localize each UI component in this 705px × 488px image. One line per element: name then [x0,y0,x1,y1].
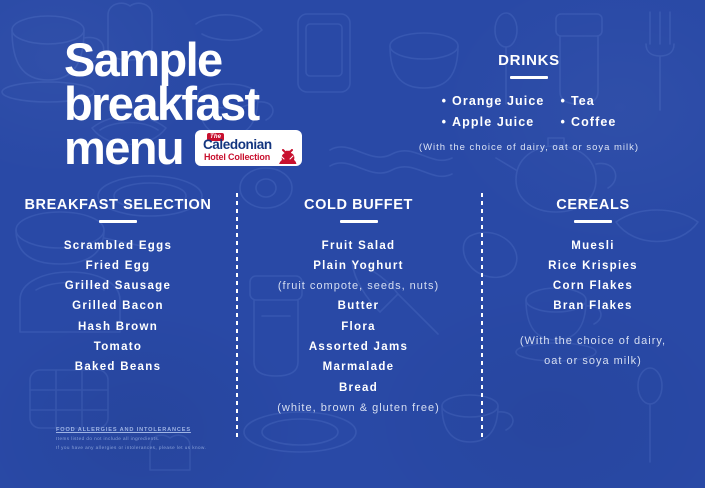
list-item: Hash Brown [0,317,236,337]
list-item: Bran Flakes [481,296,705,316]
cold-buffet-column: COLD BUFFET Fruit Salad Plain Yoghurt (f… [236,197,481,418]
drink-label: Orange Juice [452,94,544,108]
list-item-note: (white, brown & gluten free) [236,398,481,418]
breakfast-selection-rule [99,220,137,223]
list-item: Bread [236,378,481,398]
drink-item: •Tea [560,91,616,112]
bullet-icon: • [442,91,447,112]
cereals-column: CEREALS Muesli Rice Krispies Corn Flakes… [481,197,705,418]
breakfast-menu-poster: Sample breakfast menu The Caledonian Hot… [0,0,705,488]
list-item: Baked Beans [0,357,236,377]
cereals-milk-note: (With the choice of dairy, oat or soya m… [481,331,705,372]
food-allergies-notice: FOOD ALLERGIES AND INTOLERANCES Items li… [56,426,266,452]
caledonian-hotel-collection-logo: The Caledonian Hotel Collection [197,132,300,164]
list-item: Rice Krispies [481,256,705,276]
title-line-3: menu [64,126,183,170]
drink-item: •Coffee [560,112,616,133]
cereals-heading: CEREALS [481,197,705,213]
drinks-column-left: •Orange Juice •Apple Juice [442,91,545,133]
cereals-rule [574,220,612,223]
logo-subtitle: Hotel Collection [204,152,270,162]
list-item: Assorted Jams [236,337,481,357]
food-allergies-heading: FOOD ALLERGIES AND INTOLERANCES [56,426,266,434]
list-item: Corn Flakes [481,276,705,296]
drink-item: •Apple Juice [442,112,545,133]
bullet-icon: • [442,112,447,133]
title-line-2: breakfast [64,82,364,126]
drink-label: Coffee [571,115,617,129]
drinks-column-right: •Tea •Coffee [560,91,616,133]
logo-brand-name: Caledonian [203,138,272,152]
list-item: Fried Egg [0,256,236,276]
food-allergies-line-2: If you have any allergies or intolerance… [56,444,266,452]
list-item: Grilled Bacon [0,296,236,316]
lion-rampant-icon [275,136,299,161]
list-item: Butter [236,296,481,316]
drinks-heading-rule [510,76,548,79]
list-item: Fruit Salad [236,236,481,256]
breakfast-selection-heading: BREAKFAST SELECTION [0,197,236,213]
breakfast-selection-column: BREAKFAST SELECTION Scrambled Eggs Fried… [0,197,236,418]
drink-label: Tea [571,94,595,108]
drinks-section: DRINKS •Orange Juice •Apple Juice •Tea [395,52,663,153]
title-line-1: Sample [64,38,364,82]
list-item: Marmalade [236,357,481,377]
bullet-icon: • [560,91,565,112]
cold-buffet-list: Fruit Salad Plain Yoghurt (fruit compote… [236,236,481,419]
bullet-icon: • [560,112,565,133]
list-item-note: (fruit compote, seeds, nuts) [236,276,481,296]
cold-buffet-rule [340,220,378,223]
list-item: Flora [236,317,481,337]
list-item: Grilled Sausage [0,276,236,296]
page-title: Sample breakfast menu The Caledonian Hot… [64,38,364,170]
drinks-heading: DRINKS [395,52,663,69]
drink-item: •Orange Juice [442,91,545,112]
drinks-milk-note: (With the choice of dairy, oat or soya m… [395,142,663,153]
list-item: Scrambled Eggs [0,236,236,256]
food-allergies-line-1: Items listed do not include all ingredie… [56,435,266,443]
breakfast-selection-list: Scrambled Eggs Fried Egg Grilled Sausage… [0,236,236,378]
cereals-list: Muesli Rice Krispies Corn Flakes Bran Fl… [481,236,705,317]
drink-label: Apple Juice [452,115,534,129]
list-item: Plain Yoghurt [236,256,481,276]
list-item: Tomato [0,337,236,357]
cold-buffet-heading: COLD BUFFET [236,197,481,213]
list-item: Muesli [481,236,705,256]
